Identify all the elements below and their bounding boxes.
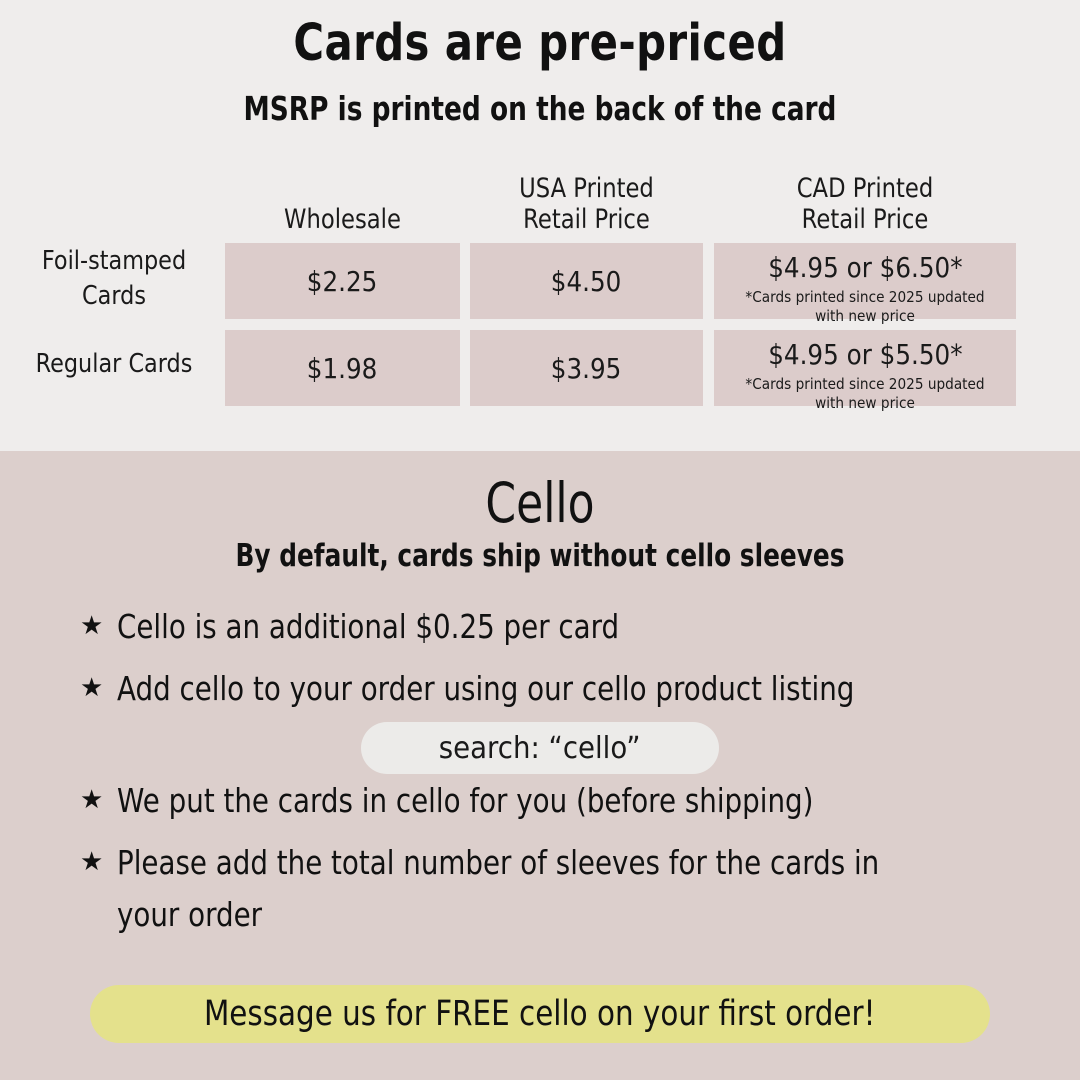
list-item: ★ Add cello to your order using our cell… <box>0 663 1080 715</box>
pricing-section: Cards are pre-priced MSRP is printed on … <box>0 0 1080 451</box>
page-subtitle: MSRP is printed on the back of the card <box>108 89 972 128</box>
list-item-label: Add cello to your order using our cello … <box>117 663 854 715</box>
row-label-regular-cards: Regular Cards <box>28 347 200 382</box>
price-value: $4.50 <box>551 265 622 298</box>
table-cell-foil-wholesale: $2.25 <box>225 243 460 319</box>
cello-subtitle: By default, cards ship without cello sle… <box>108 538 972 574</box>
table-cell-foil-usa-retail: $4.50 <box>470 243 703 319</box>
price-value: $3.95 <box>551 352 622 385</box>
price-footnote: *Cards printed since 2025 updated with n… <box>733 288 997 326</box>
list-item-label: Cello is an additional $0.25 per card <box>117 601 619 653</box>
price-value: $1.98 <box>307 352 378 385</box>
row-label-foil-stamped-cards: Foil-stamped Cards <box>28 244 200 314</box>
star-icon: ★ <box>80 663 103 711</box>
table-cell-foil-cad-retail: $4.95 or $6.50* *Cards printed since 202… <box>714 243 1016 319</box>
price-value: $2.25 <box>307 265 378 298</box>
star-icon: ★ <box>80 601 103 649</box>
price-value: $4.95 or $5.50* <box>768 338 962 371</box>
list-item-label: We put the cards in cello for you (befor… <box>117 775 813 827</box>
search-hint-label: search: “cello” <box>439 731 641 766</box>
price-footnote: *Cards printed since 2025 updated with n… <box>733 375 997 413</box>
cta-banner[interactable]: Message us for FREE cello on your first … <box>90 985 990 1043</box>
cello-title: Cello <box>108 471 972 535</box>
star-icon: ★ <box>80 837 103 885</box>
cta-label: Message us for FREE cello on your first … <box>204 994 875 1034</box>
price-value: $4.95 or $6.50* <box>768 251 962 284</box>
infographic-page: Cards are pre-priced MSRP is printed on … <box>0 0 1080 1080</box>
table-cell-regular-usa-retail: $3.95 <box>470 330 703 406</box>
column-header-cad-retail: CAD Printed Retail Price <box>738 173 992 235</box>
list-item: ★ Please add the total number of sleeves… <box>0 837 1080 941</box>
list-item: ★ We put the cards in cello for you (bef… <box>0 775 1080 827</box>
column-header-usa-retail: USA Printed Retail Price <box>489 173 685 235</box>
cello-bullet-list: ★ Cello is an additional $0.25 per card … <box>0 601 1080 951</box>
column-header-wholesale: Wholesale <box>244 204 441 235</box>
list-item-label: Please add the total number of sleeves f… <box>117 837 892 941</box>
table-cell-regular-cad-retail: $4.95 or $5.50* *Cards printed since 202… <box>714 330 1016 406</box>
page-title: Cards are pre-priced <box>97 14 983 73</box>
star-icon: ★ <box>80 775 103 823</box>
table-cell-regular-wholesale: $1.98 <box>225 330 460 406</box>
list-item: ★ Cello is an additional $0.25 per card <box>0 601 1080 653</box>
search-hint-pill[interactable]: search: “cello” <box>361 722 719 774</box>
